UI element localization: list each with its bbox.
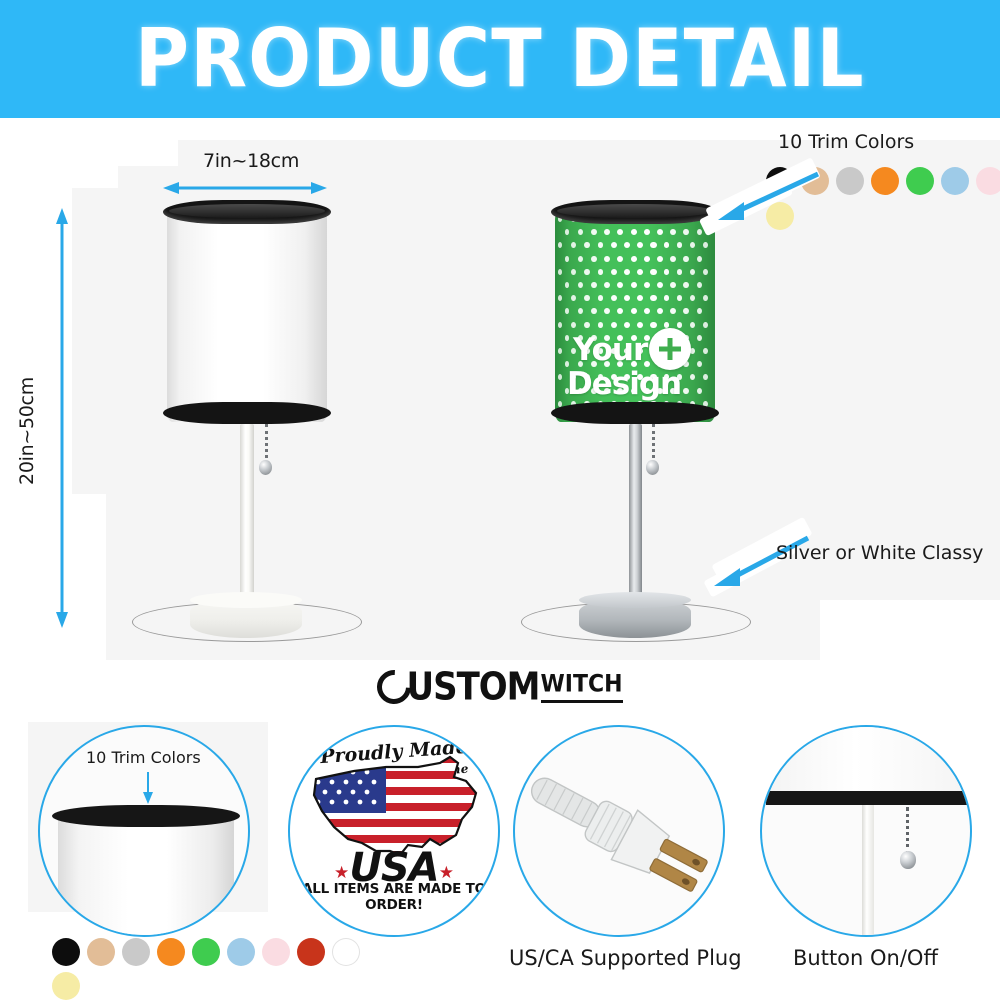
base-finish-label: Silver or White Classy (776, 542, 983, 564)
swatch-pink[interactable] (262, 938, 290, 966)
logo-word-witch: WITCH (541, 670, 623, 698)
lampshade-green-top-trim (551, 200, 719, 224)
swatch-green[interactable] (906, 167, 934, 195)
polka-dot (558, 295, 562, 301)
lamp-stem-white (240, 424, 254, 606)
polka-dot (697, 256, 702, 262)
polka-dot (558, 374, 562, 380)
polka-dot (591, 282, 597, 288)
polka-dot (683, 256, 688, 262)
polka-dot (644, 256, 650, 262)
polka-dot (565, 229, 570, 235)
height-dimension-arrow (56, 208, 68, 628)
polka-dot (617, 256, 623, 262)
polka-dot (670, 229, 676, 235)
polka-dot (604, 229, 610, 235)
feature-swatch-row-2[interactable] (52, 972, 80, 1000)
polka-dot (565, 282, 570, 288)
zoom-shade-surface (58, 813, 234, 937)
polka-dot (637, 242, 643, 248)
polka-dot (677, 269, 683, 275)
zoom-switch-shade (762, 727, 970, 797)
swatch-black[interactable] (52, 938, 80, 966)
feature-circle-made-in-usa: Proudly Made in the (288, 725, 500, 937)
height-dimension-label: 20in~50cm (16, 351, 38, 511)
pull-chain-ball-green[interactable] (646, 460, 659, 475)
panel-notch-a (72, 140, 118, 188)
polka-dot (703, 295, 708, 301)
polka-dot (637, 322, 643, 328)
lampshade-green-top-trim-inner (557, 204, 713, 218)
your-design-line-1: Your (573, 332, 647, 368)
polka-dot (584, 295, 589, 301)
plus-icon[interactable] (649, 328, 691, 370)
polka-dot (578, 229, 583, 235)
polka-dot (677, 295, 683, 301)
polka-dot (617, 229, 623, 235)
swatch-pink[interactable] (976, 167, 1000, 195)
polka-dot (565, 308, 570, 314)
polka-dot (591, 308, 597, 314)
lampshade-white-bottom-trim (163, 402, 331, 424)
polka-dot (697, 308, 702, 314)
trim-arrow-icon (700, 168, 830, 232)
swatch-green[interactable] (192, 938, 220, 966)
feature-caption-switch: Button On/Off (793, 946, 938, 970)
polka-dot (670, 256, 676, 262)
logo-witch-block: WITCH (541, 672, 623, 703)
polka-dot (637, 269, 643, 275)
polka-dot (598, 242, 604, 248)
polka-dot (591, 229, 597, 235)
lampshade-green-bottom-trim (551, 402, 719, 424)
lamp-base-white (190, 598, 302, 638)
polka-dot (578, 256, 583, 262)
polka-dot (598, 295, 604, 301)
zoom-switch-stem (862, 805, 874, 937)
polka-dot (584, 242, 589, 248)
your-design-artwork: Your Design (567, 332, 707, 408)
polka-dot (591, 256, 597, 262)
polka-dot (578, 282, 583, 288)
polka-dot (664, 295, 670, 301)
polka-dot (683, 308, 688, 314)
panel-notch-c (118, 140, 178, 166)
swatch-red[interactable] (297, 938, 325, 966)
polka-dot (703, 322, 708, 328)
polka-dot (690, 295, 695, 301)
polka-dot (703, 242, 708, 248)
product-detail-page: PRODUCT DETAIL 10 Trim Colors 7in~18cm 2… (0, 0, 1000, 1000)
usa-star-right: ★ (439, 863, 454, 883)
polka-dot (571, 295, 576, 301)
your-design-line-2: Design (567, 366, 681, 402)
polka-dot (690, 269, 695, 275)
polka-dot (657, 308, 663, 314)
polka-dot (571, 242, 576, 248)
polka-dot (584, 322, 589, 328)
swatch-gray[interactable] (122, 938, 150, 966)
width-dimension-label: 7in~18cm (186, 150, 316, 172)
polka-dot (558, 348, 562, 354)
polka-dot (690, 242, 695, 248)
feature-circle-plug (513, 725, 725, 937)
zoom-pull-chain-ball[interactable] (900, 851, 916, 869)
polka-dot (571, 322, 576, 328)
polka-dot (683, 282, 688, 288)
swatch-cream[interactable] (52, 972, 80, 1000)
polka-dot (637, 295, 643, 301)
polka-dot (683, 229, 688, 235)
lampshade-white-surface (167, 210, 327, 422)
swatch-tan[interactable] (87, 938, 115, 966)
polka-dot (604, 308, 610, 314)
polka-dot (677, 322, 683, 328)
lampshade-green-surface: Your Design (555, 210, 715, 422)
polka-dot (611, 322, 617, 328)
polka-dot (611, 295, 617, 301)
polka-dot (584, 269, 589, 275)
polka-dot (650, 295, 656, 301)
polka-dot (631, 308, 637, 314)
polka-dot (624, 322, 630, 328)
feature-caption-plug: US/CA Supported Plug (509, 946, 742, 970)
feature-swatch-row-1[interactable] (52, 938, 360, 966)
pull-chain-ball-white[interactable] (259, 460, 272, 475)
polka-dot (657, 282, 663, 288)
polka-dot (617, 308, 623, 314)
polka-dot (565, 256, 570, 262)
polka-dot (631, 282, 637, 288)
swatch-gray[interactable] (836, 167, 864, 195)
zoom-pull-chain[interactable] (906, 807, 909, 855)
polka-dot (598, 322, 604, 328)
width-dimension-arrow (163, 181, 327, 193)
polka-dot (670, 282, 676, 288)
polka-dot (624, 295, 630, 301)
polka-dot (631, 229, 637, 235)
lampshade-white-top-trim (163, 200, 331, 224)
polka-dot (571, 269, 576, 275)
polka-dot (664, 242, 670, 248)
lamp-base-silver (579, 598, 691, 638)
swatch-orange[interactable] (871, 167, 899, 195)
feature-circle-switch (760, 725, 972, 937)
polka-dot (650, 269, 656, 275)
polka-dot (657, 229, 663, 235)
lamp-base-top-white (190, 592, 302, 608)
polka-dot (558, 242, 562, 248)
polka-dot (644, 229, 650, 235)
polka-dot (624, 269, 630, 275)
polka-dot (644, 282, 650, 288)
polka-dot (611, 242, 617, 248)
power-plug-icon (515, 727, 725, 937)
lampshade-white (167, 200, 327, 412)
logo-word-custom: USTOM (406, 665, 539, 710)
page-title: PRODUCT DETAIL (135, 19, 865, 100)
polka-dot (604, 256, 610, 262)
swatch-white[interactable] (332, 938, 360, 966)
logo-underline (541, 700, 623, 703)
polka-dot (703, 269, 708, 275)
polka-dot (650, 242, 656, 248)
zoom-switch-trim (766, 791, 970, 805)
polka-dot (677, 242, 683, 248)
lamp-base-top-silver (579, 592, 691, 608)
swatch-orange[interactable] (157, 938, 185, 966)
polka-dot (624, 242, 630, 248)
polka-dot (697, 282, 702, 288)
pull-chain-green[interactable] (652, 424, 655, 464)
polka-dot (644, 308, 650, 314)
polka-dot (578, 308, 583, 314)
trim-colors-heading: 10 Trim Colors (778, 131, 914, 153)
polka-dot (650, 322, 656, 328)
swatch-blue[interactable] (941, 167, 969, 195)
polka-dot (617, 282, 623, 288)
pull-chain-white[interactable] (265, 424, 268, 464)
panel-notch-b (72, 494, 106, 660)
lampshade-white-top-trim-inner (169, 204, 325, 218)
polka-dot (657, 256, 663, 262)
polka-dot (598, 269, 604, 275)
polka-dot (604, 282, 610, 288)
lamp-stem-silver (629, 424, 642, 606)
feature-trim-down-arrow-icon (142, 772, 154, 809)
feature-trim-inner-label: 10 Trim Colors (86, 748, 201, 767)
polka-dot (664, 322, 670, 328)
polka-dot (631, 256, 637, 262)
brand-logo: USTOM WITCH (0, 662, 1000, 712)
header-banner: PRODUCT DETAIL (0, 0, 1000, 118)
polka-dot (664, 269, 670, 275)
callout-trim-arrow (700, 168, 830, 232)
usa-badge-line-4: ALL ITEMS ARE MADE TO ORDER! (290, 881, 498, 913)
panel-notch-d (820, 600, 1000, 660)
lampshade-green: Your Design (555, 200, 715, 412)
polka-dot (558, 322, 562, 328)
polka-dot (690, 322, 695, 328)
polka-dot (558, 269, 562, 275)
polka-dot (670, 308, 676, 314)
swatch-blue[interactable] (227, 938, 255, 966)
polka-dot (611, 269, 617, 275)
